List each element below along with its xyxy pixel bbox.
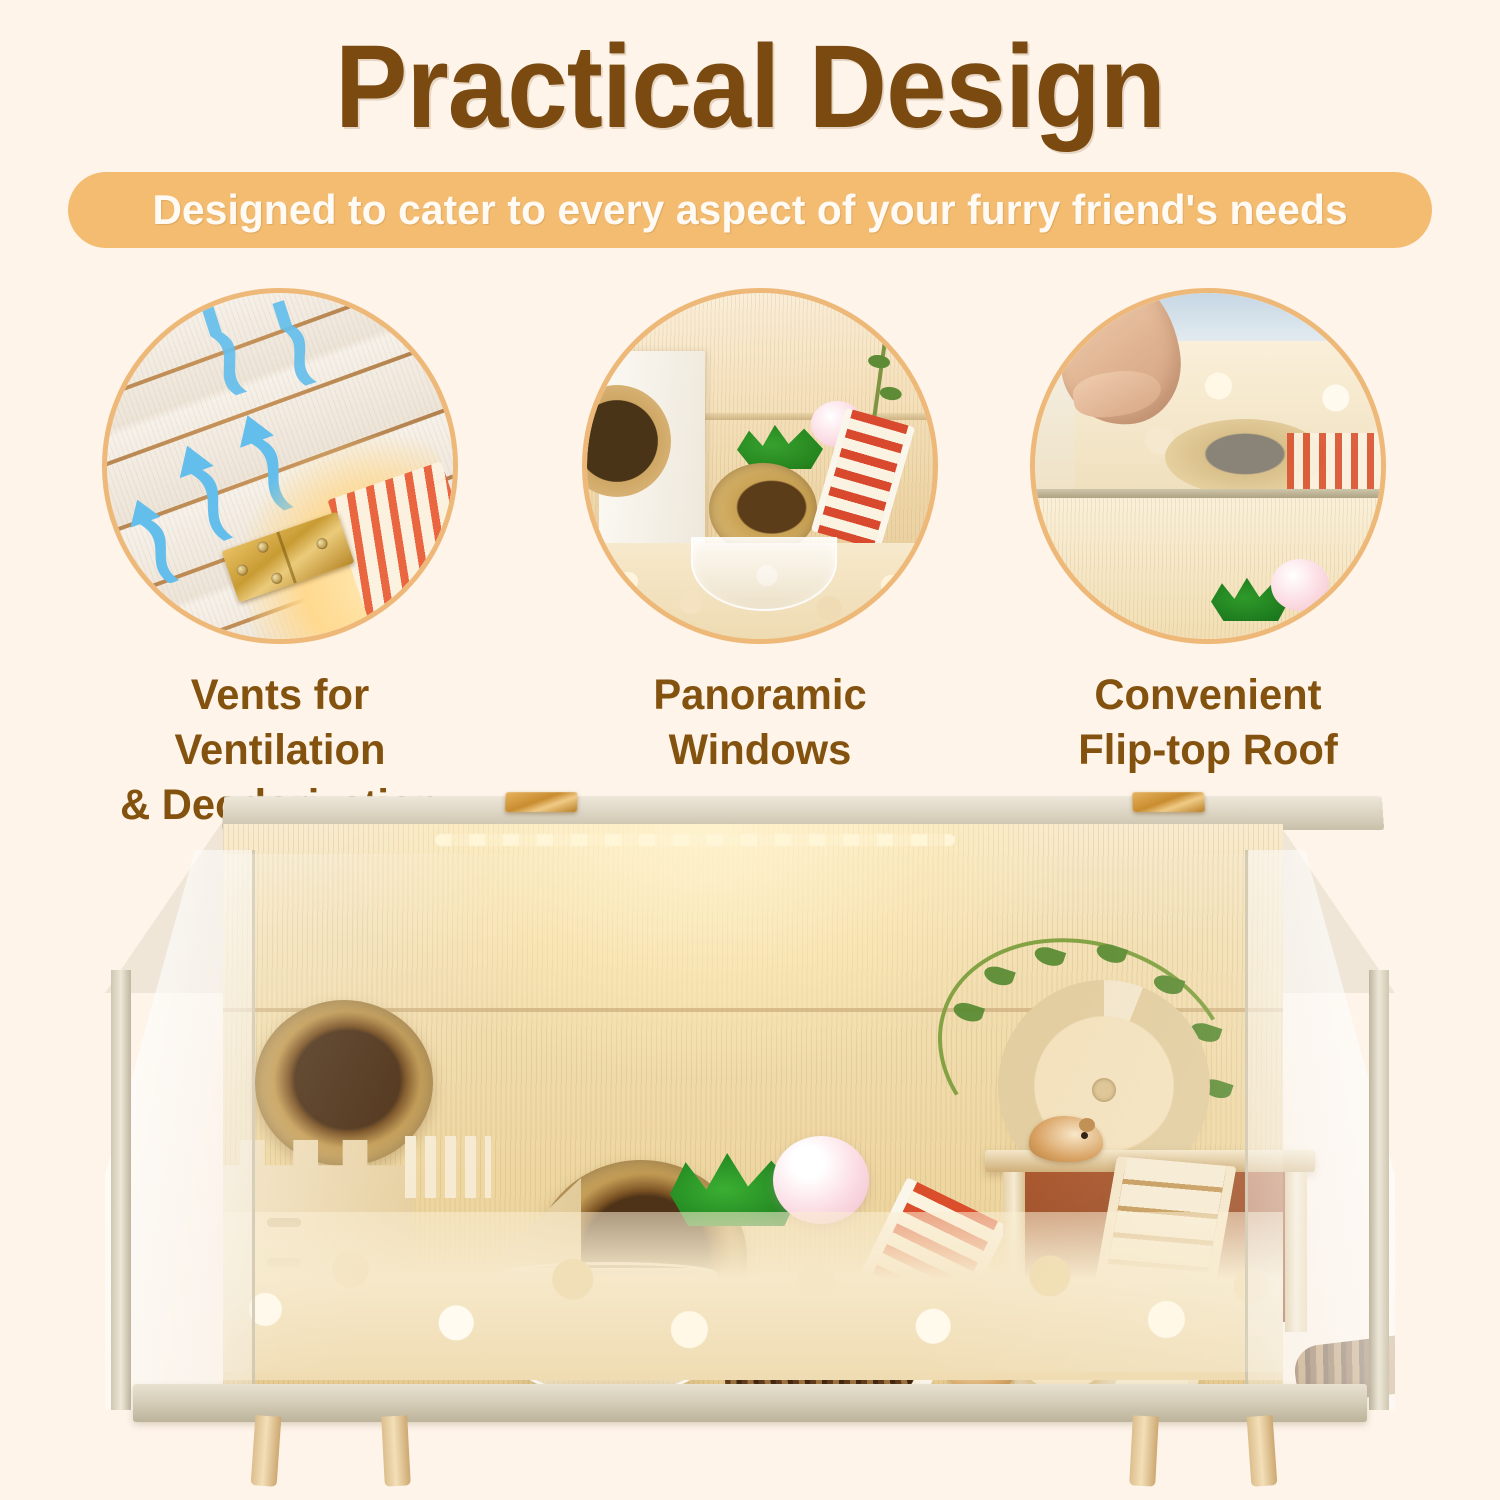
- flip-top-roof-open: [1035, 293, 1381, 493]
- feature-image-flip-top-roof: [1030, 288, 1386, 644]
- feature-caption-line1: Vents for Ventilation: [107, 668, 452, 778]
- hamster: [1029, 1116, 1103, 1162]
- hamster-cage: [105, 790, 1395, 1430]
- cage-body: [105, 820, 1395, 1416]
- cage-base-frame: [133, 1384, 1367, 1422]
- page-title: Practical Design: [60, 28, 1440, 146]
- airflow-arrow-icon: [193, 301, 253, 397]
- roof-edge-divider: [1035, 489, 1381, 498]
- pink-flower-decoration: [1271, 559, 1329, 611]
- feature-item-panoramic-windows: Panoramic Windows: [582, 288, 938, 778]
- cage-leg: [1247, 1415, 1278, 1487]
- cage-leg: [251, 1415, 282, 1487]
- pink-flower-decoration: [773, 1136, 869, 1224]
- feature-image-ventilation: [102, 288, 458, 644]
- cage-lower-wall: [1035, 498, 1381, 639]
- feature-caption-line1: Convenient: [1035, 668, 1380, 723]
- brass-hinge-icon: [1132, 792, 1205, 812]
- picket-fence: [405, 1136, 491, 1198]
- cage-leg: [1129, 1415, 1159, 1486]
- red-striped-ladder: [1287, 433, 1381, 493]
- airflow-arrow-icon: [265, 295, 323, 387]
- feature-item-ventilation: Vents for Ventilation & Deodorization: [102, 288, 458, 833]
- feature-caption: Panoramic Windows: [587, 668, 932, 778]
- subtitle-text: Designed to cater to every aspect of you…: [152, 186, 1347, 234]
- corner-post-right: [1369, 970, 1389, 1410]
- feature-item-flip-top-roof: Convenient Flip-top Roof: [1030, 288, 1386, 778]
- brass-hinge-icon: [505, 792, 578, 812]
- feature-caption: Convenient Flip-top Roof: [1035, 668, 1380, 778]
- hero-product-photo: [0, 784, 1500, 1500]
- cage-leg: [381, 1415, 411, 1486]
- feature-caption-line2: Windows: [587, 723, 932, 778]
- feature-image-panoramic-windows: [582, 288, 938, 644]
- corner-post-left: [111, 970, 131, 1410]
- feature-caption-line1: Panoramic: [587, 668, 932, 723]
- feature-caption-line2: Flip-top Roof: [1035, 723, 1380, 778]
- feature-list: Vents for Ventilation & Deodorization: [0, 288, 1500, 768]
- wood-shaving-bedding: [223, 1212, 1283, 1380]
- subtitle-banner: Designed to cater to every aspect of you…: [68, 172, 1432, 248]
- led-strip-light: [435, 834, 955, 846]
